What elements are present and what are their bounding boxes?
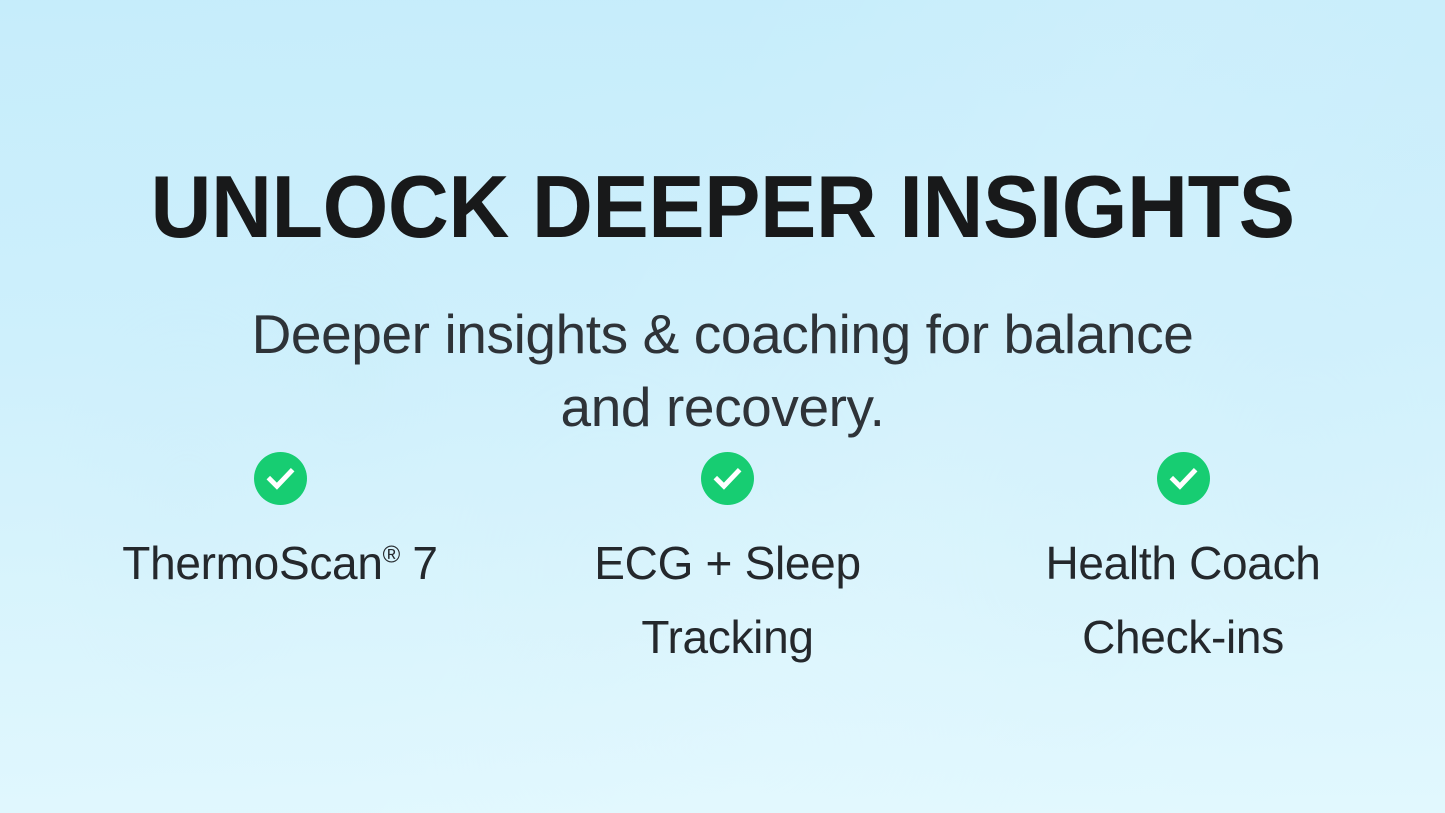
- feature-label-main: ThermoScan: [122, 537, 382, 589]
- feature-item-health-coach: Health Coach Check-ins: [983, 452, 1383, 674]
- card-content: UNLOCK DEEPER INSIGHTS Deeper insights &…: [0, 0, 1445, 813]
- feature-label-thermoscan: ThermoScan® 7: [122, 527, 437, 601]
- feature-list: ThermoScan® 7 ECG + Sleep Tracking: [62, 452, 1383, 674]
- promo-card: UNLOCK DEEPER INSIGHTS Deeper insights &…: [0, 0, 1445, 813]
- check-circle-icon: [1157, 452, 1210, 505]
- subtitle-text: Deeper insights & coaching for balance a…: [223, 298, 1223, 444]
- feature-item-ecg-sleep: ECG + Sleep Tracking: [528, 452, 928, 674]
- registered-trademark-mark: ®: [383, 542, 400, 569]
- check-circle-icon: [701, 452, 754, 505]
- feature-label-ecg-sleep: ECG + Sleep Tracking: [563, 527, 893, 674]
- feature-label-health-coach: Health Coach Check-ins: [1018, 527, 1348, 674]
- check-circle-icon: [254, 452, 307, 505]
- page-title: UNLOCK DEEPER INSIGHTS: [29, 163, 1416, 251]
- feature-label-suffix: 7: [400, 537, 438, 589]
- feature-item-thermoscan: ThermoScan® 7: [80, 452, 480, 601]
